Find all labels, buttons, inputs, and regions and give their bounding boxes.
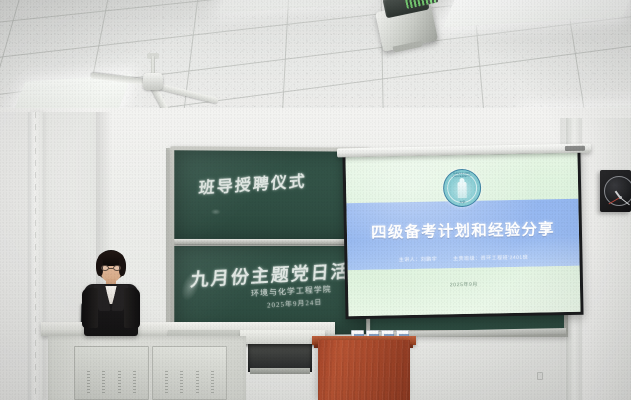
ceiling-fan (122, 56, 226, 104)
presenter-woman (78, 250, 144, 336)
cabinet-door-left[interactable] (74, 346, 149, 400)
wooden-lectern (318, 340, 410, 400)
presentation-slide: HANGZHOU UNIVERSITY 大学 四级备考计划和经验分享 主讲人：刘… (345, 153, 580, 316)
screen-roller-endcap (565, 146, 585, 151)
seal-text-bottom: 大学 (444, 200, 480, 205)
slide-band-bottom (348, 266, 581, 317)
wall-clock (600, 170, 631, 212)
classroom-photo: 班导授聘仪式 九月份主题党日活动 环境与化学工程学院 2025年9月24日 HA… (0, 0, 631, 400)
slide-title: 四级备考计划和经验分享 (347, 216, 579, 242)
projector-vent (404, 0, 438, 9)
clock-face (604, 176, 631, 206)
projection-screen: HANGZHOU UNIVERSITY 大学 四级备考计划和经验分享 主讲人：刘… (342, 150, 583, 320)
chalk-smudge (211, 209, 221, 215)
blackboard-surface: 班导授聘仪式 九月份主题党日活动 环境与化学工程学院 2025年9月24日 (174, 150, 366, 335)
wall-pillar (28, 112, 43, 400)
desk-compartment-rail (250, 368, 310, 374)
lectern-wood-grain (318, 340, 410, 400)
clock-center (619, 196, 622, 199)
teacher-desk-cabinet (48, 336, 246, 400)
fan-motor (143, 73, 163, 90)
university-seal-icon: HANGZHOU UNIVERSITY 大学 (443, 169, 482, 208)
blazer-arm-left (82, 288, 98, 328)
cabinet-vents (153, 367, 226, 393)
cabinet-vents (75, 367, 148, 393)
blackboard-middle-rail (174, 239, 366, 244)
wall-socket (537, 372, 543, 380)
glasses-icon (101, 265, 121, 271)
cabinet-door-right[interactable] (152, 346, 227, 400)
blazer-arm-right (124, 288, 140, 328)
blackboard: 班导授聘仪式 九月份主题党日活动 环境与化学工程学院 2025年9月24日 (170, 146, 370, 343)
seal-tower-glyph (457, 182, 466, 198)
pillar-seam (35, 112, 36, 400)
slide-presenter: 主讲人：刘鹏宇 (399, 257, 438, 264)
